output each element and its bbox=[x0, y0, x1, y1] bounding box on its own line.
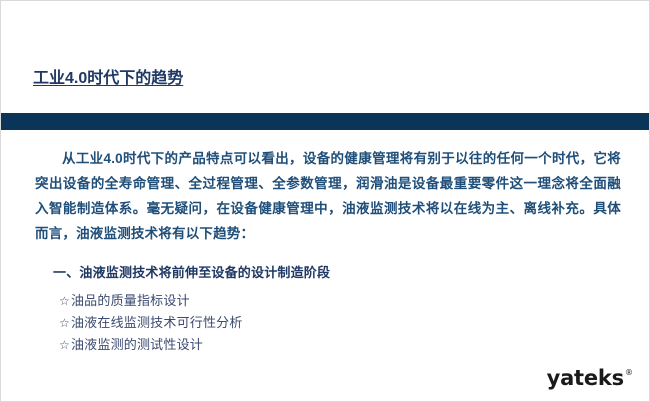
star-icon: ☆ bbox=[59, 338, 70, 352]
section-heading: 一、油液监测技术将前伸至设备的设计制造阶段 bbox=[53, 262, 330, 281]
page-title: 工业4.0时代下的趋势 bbox=[33, 64, 183, 88]
list-item-label: 油液在线监测技术可行性分析 bbox=[71, 315, 243, 330]
brand-logo: yateks ® bbox=[547, 368, 633, 389]
slide-canvas: 工业4.0时代下的趋势 从工业4.0时代下的产品特点可以看出，设备的健康管理将有… bbox=[0, 0, 650, 402]
list-item-label: 油品的质量指标设计 bbox=[71, 293, 190, 308]
brand-logo-text: yateks bbox=[547, 368, 624, 389]
list-item: ☆油液在线监测技术可行性分析 bbox=[59, 312, 243, 334]
title-divider-bar bbox=[1, 113, 650, 130]
body-paragraph: 从工业4.0时代下的产品特点可以看出，设备的健康管理将有别于以往的任何一个时代，… bbox=[35, 146, 621, 246]
registered-trademark-icon: ® bbox=[625, 369, 633, 377]
list-item: ☆油液监测的测试性设计 bbox=[59, 334, 243, 356]
star-icon: ☆ bbox=[59, 294, 70, 308]
list-item-label: 油液监测的测试性设计 bbox=[71, 337, 203, 352]
star-icon: ☆ bbox=[59, 316, 70, 330]
list-item: ☆油品的质量指标设计 bbox=[59, 290, 243, 312]
bullet-list: ☆油品的质量指标设计 ☆油液在线监测技术可行性分析 ☆油液监测的测试性设计 bbox=[59, 290, 243, 356]
